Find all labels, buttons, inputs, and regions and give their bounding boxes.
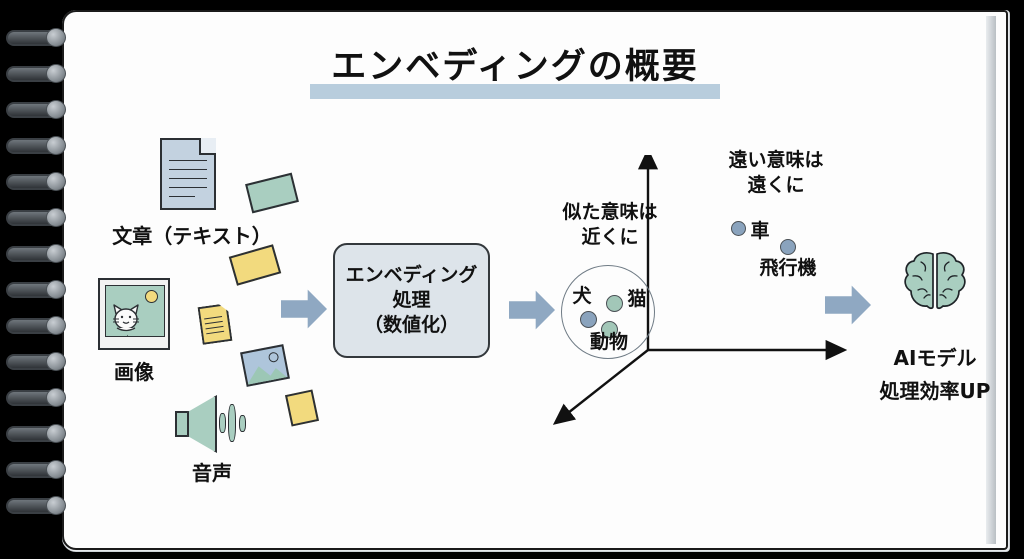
spiral-binding: [0, 0, 110, 559]
spiral-ring: [6, 28, 70, 45]
input-label-image: 画像: [84, 356, 184, 385]
cluster-label-dog: 犬: [568, 281, 596, 308]
cluster-label-cat: 猫: [623, 284, 651, 311]
spiral-ring: [6, 136, 70, 153]
spiral-ring: [6, 208, 70, 225]
spiral-ring: [6, 280, 70, 297]
cluster-dot-cat: [606, 295, 623, 312]
spiral-ring: [6, 388, 70, 405]
fragment-document-yellow: [198, 303, 233, 345]
output-label-efficiency: 処理効率UP: [865, 375, 1005, 404]
far-dot-car: [731, 221, 746, 236]
process-line-2: 処理: [392, 288, 430, 313]
near-meaning-line-2: 近くに: [545, 225, 675, 250]
spiral-ring: [6, 172, 70, 189]
embedding-process-box: エンベディング 処理 （数値化）: [333, 243, 490, 358]
process-line-3: （数値化）: [364, 313, 459, 338]
input-label-text: 文章（テキスト）: [92, 220, 292, 249]
spiral-ring: [6, 496, 70, 513]
far-meaning-label: 遠い意味は 遠くに: [712, 148, 840, 197]
title-block: エンベディングの概要: [300, 38, 730, 100]
near-meaning-label: 似た意味は 近くに: [545, 200, 675, 249]
photo-icon: [98, 278, 170, 350]
spiral-ring: [6, 64, 70, 81]
spiral-ring: [6, 100, 70, 117]
document-icon: [160, 138, 216, 210]
slide-canvas: エンベディングの概要 文章（テキスト） 画像 音声: [0, 0, 1024, 559]
brain-icon: [900, 250, 970, 312]
near-meaning-line-1: 似た意味は: [545, 200, 675, 225]
cluster-dot-dog: [580, 311, 597, 328]
far-label-airplane: 飛行機: [748, 253, 828, 280]
spiral-ring: [6, 316, 70, 333]
cat-illustration: [110, 300, 144, 336]
far-meaning-line-2: 遠くに: [712, 173, 840, 198]
spiral-ring: [6, 460, 70, 477]
input-label-audio: 音声: [162, 457, 262, 486]
speaker-icon: [175, 395, 249, 451]
spiral-ring: [6, 352, 70, 369]
page-title: エンベディングの概要: [300, 38, 730, 96]
spiral-ring: [6, 424, 70, 441]
cluster-label-animal: 動物: [583, 327, 635, 354]
output-label-model: AIモデル: [865, 342, 1005, 371]
process-line-1: エンベディング: [346, 263, 478, 288]
far-label-car: 車: [746, 216, 774, 243]
spiral-ring: [6, 244, 70, 261]
far-meaning-line-1: 遠い意味は: [712, 148, 840, 173]
